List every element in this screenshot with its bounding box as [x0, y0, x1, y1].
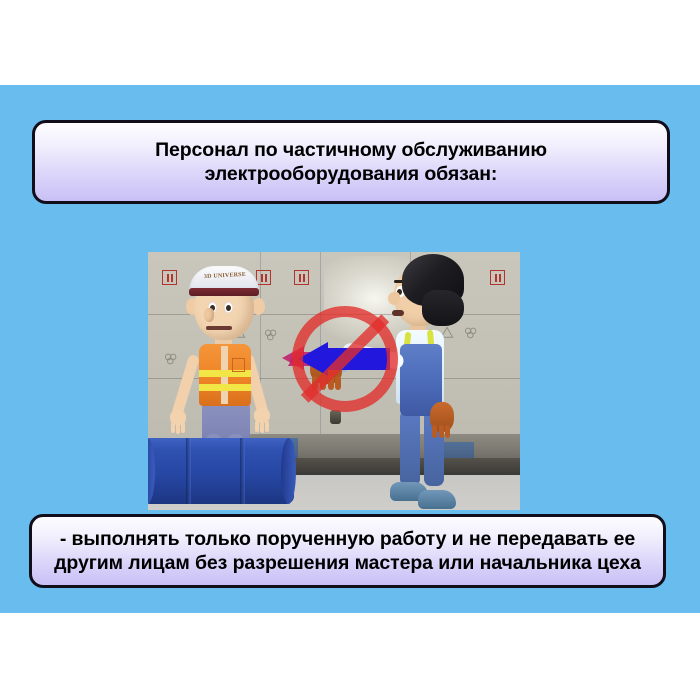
barrel-rib [240, 438, 245, 504]
caption-top-text: Персонал по частичному обслуживанию элек… [155, 138, 547, 187]
vest-pocket [232, 358, 245, 372]
caption-top-line-2: электрооборудования обязан: [155, 162, 547, 186]
caption-top-line-1: Персонал по частичному обслуживанию [155, 138, 547, 162]
barrel-end-cap [148, 438, 155, 504]
left-worker-nose [204, 308, 214, 322]
fragile-stencil-icon [490, 270, 505, 285]
slide-canvas: Персонал по частичному обслуживанию элек… [0, 0, 700, 700]
caption-bottom-text: - выполнять только порученную работу и н… [54, 527, 641, 576]
prohibition-sign-icon [292, 306, 398, 412]
illustration-image: 3D UNIVERSE [148, 252, 520, 510]
left-worker-eye [224, 302, 233, 313]
right-worker-leg [400, 410, 420, 486]
caption-bottom: - выполнять только порученную работу и н… [29, 514, 666, 588]
right-worker-nose [388, 292, 400, 305]
left-worker-cap-band [189, 288, 259, 296]
caption-bottom-line-1: - выполнять только порученную работу и н… [54, 527, 641, 551]
left-worker-mouth [206, 326, 232, 330]
wall-fixture [330, 410, 341, 424]
left-worker-pupil [226, 305, 231, 311]
right-worker-hand [430, 402, 454, 432]
vest-reflective-stripe [199, 384, 251, 391]
right-worker-hair-back [422, 290, 464, 326]
left-worker-arm [171, 354, 200, 418]
left-worker-hand [170, 410, 186, 425]
right-worker-shoe [418, 490, 456, 509]
barrel-rib [186, 438, 191, 504]
left-worker-hand [254, 408, 270, 423]
blue-barrel [148, 438, 294, 504]
caption-top: Персонал по частичному обслуживанию элек… [32, 120, 670, 204]
caption-bottom-line-2: другим лицам без разрешения мастера или … [54, 551, 641, 575]
barrel-end-cap [281, 438, 296, 504]
